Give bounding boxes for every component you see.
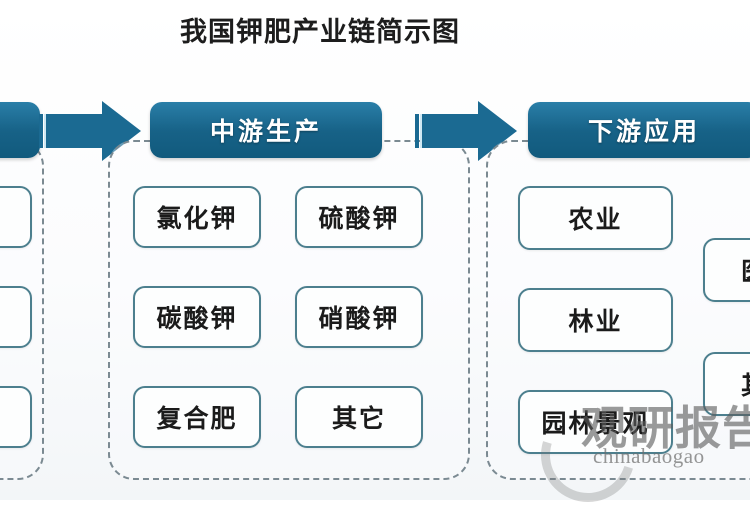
item-box-landscaping: 园林景观 (518, 390, 673, 454)
item-box-potassium-nitrate: 硝酸钾 (295, 286, 423, 348)
item-box-upstream-3 (0, 386, 32, 448)
page-title: 我国钾肥产业链简示图 (0, 10, 640, 49)
item-box-midstream-other: 其它 (295, 386, 423, 448)
item-box-pharmaceutical: 医药 (703, 238, 750, 302)
stage-header-downstream: 下游应用 (528, 102, 750, 158)
item-box-agriculture: 农业 (518, 186, 673, 250)
item-box-forestry: 林业 (518, 288, 673, 352)
item-box-upstream-1 (0, 186, 32, 248)
item-box-potassium-carbonate: 碳酸钾 (133, 286, 261, 348)
item-box-upstream-2 (0, 286, 32, 348)
stage-header-midstream: 中游生产 (150, 102, 382, 158)
stage-header-upstream (0, 102, 40, 158)
item-box-compound-fertilizer: 复合肥 (133, 386, 261, 448)
item-box-downstream-other: 其它 (703, 352, 750, 416)
item-box-potassium-chloride: 氯化钾 (133, 186, 261, 248)
item-box-potassium-sulfate: 硫酸钾 (295, 186, 423, 248)
